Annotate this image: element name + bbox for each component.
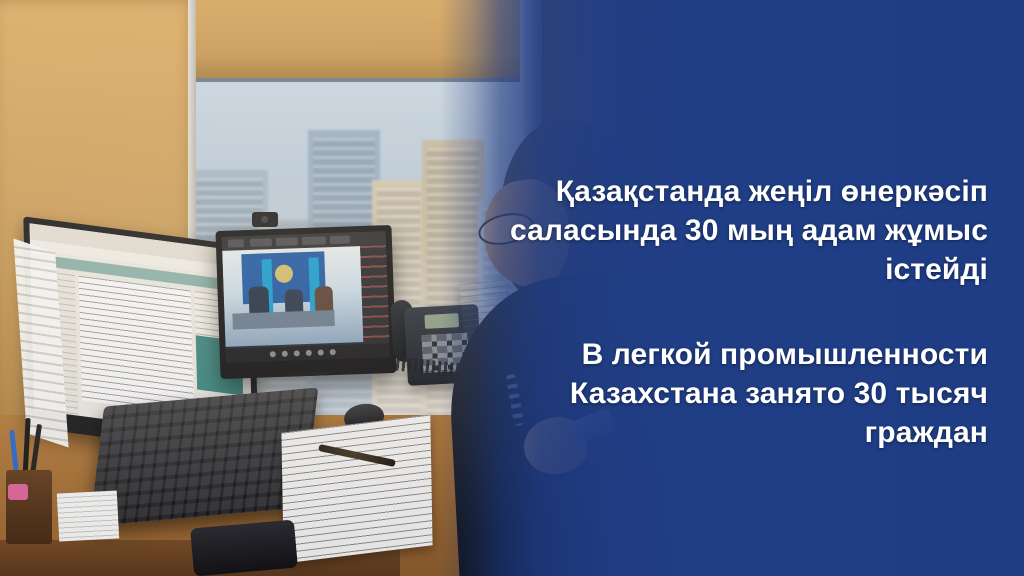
monitor-screen — [222, 231, 390, 363]
headline-russian: В легкой промышленности Казахстана занят… — [468, 335, 988, 452]
banner-image: Қазақстанда жеңіл өнеркәсіп саласында 30… — [0, 0, 1024, 576]
paper-stack — [57, 490, 119, 541]
headline-kazakh: Қазақстанда жеңіл өнеркәсіп саласында 30… — [468, 172, 988, 289]
document-page — [79, 276, 194, 415]
video-call-stage — [222, 246, 363, 347]
printed-document — [281, 415, 432, 564]
conference-table — [233, 310, 336, 329]
participant-list — [360, 245, 389, 344]
eraser — [8, 484, 28, 500]
pen-holder — [6, 470, 52, 544]
video-call-controls — [226, 343, 390, 363]
caption-block: Қазақстанда жеңіл өнеркәсіп саласында 30… — [468, 172, 988, 452]
mobile-phone — [190, 520, 298, 576]
roller-blind-top — [196, 0, 526, 82]
webcam — [252, 212, 278, 227]
monitor-video-conference — [215, 225, 396, 379]
emblem-icon — [274, 264, 293, 283]
